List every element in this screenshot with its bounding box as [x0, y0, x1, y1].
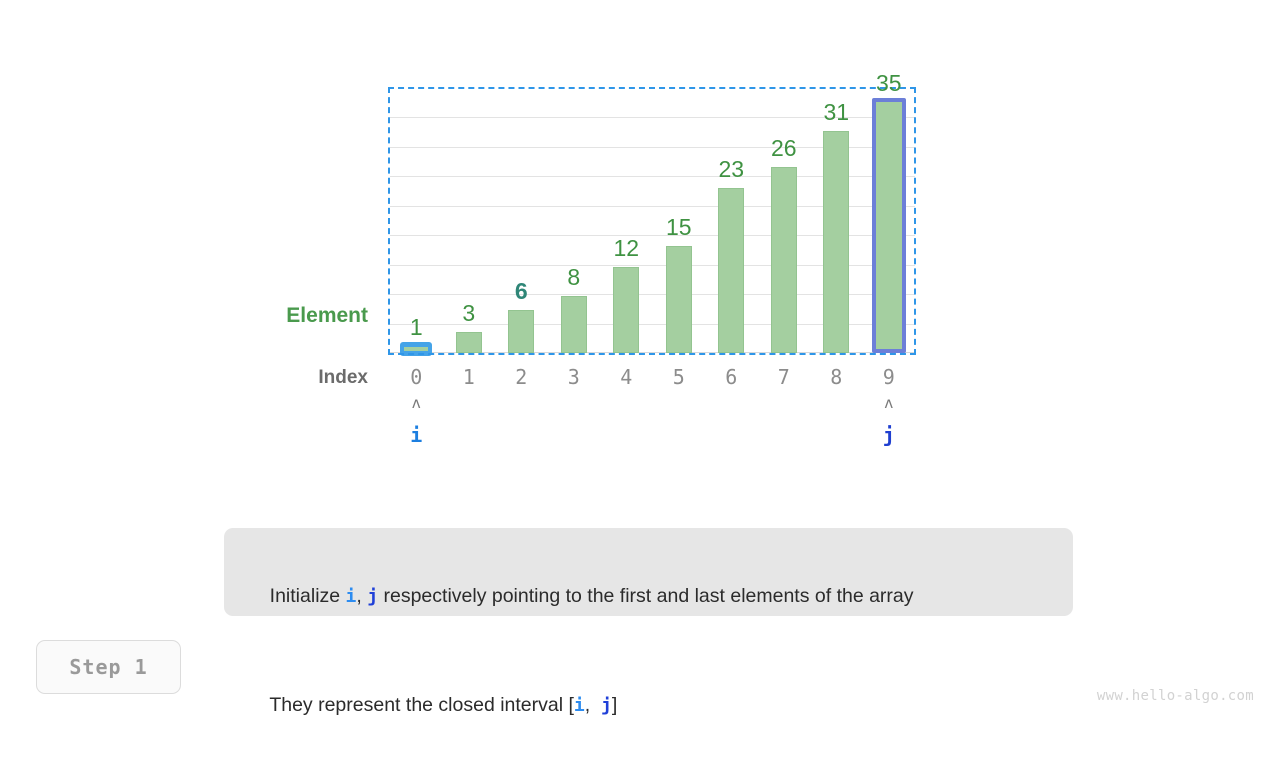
pointer-caret-i: ʌ: [386, 396, 446, 411]
caption-l1-i: i: [346, 586, 357, 607]
index-tick-5: 5: [649, 367, 709, 387]
value-label: 1: [386, 316, 446, 339]
caption-l2-sep: ,: [585, 694, 601, 716]
index-tick-4: 4: [596, 367, 656, 387]
caption-l2-j: j: [601, 695, 612, 716]
value-label-target: 6: [491, 280, 551, 303]
caption-l2-text2: ]: [612, 694, 617, 716]
binary-search-visualization: 1368121523263135 Element Index 012345678…: [0, 0, 1280, 470]
watermark: www.hello-algo.com: [1097, 688, 1254, 704]
step-badge: Step 1: [36, 640, 181, 694]
value-label: 35: [859, 72, 919, 95]
caption-line-2: They represent the closed interval [i, j…: [248, 651, 1049, 760]
bar: [718, 188, 744, 353]
value-label: 12: [596, 237, 656, 260]
element-row-label: Element: [200, 304, 368, 328]
bar: [613, 267, 639, 353]
value-label: 8: [544, 266, 604, 289]
caption-line-1: Initialize i, j respectively pointing to…: [248, 542, 1049, 651]
index-tick-2: 2: [491, 367, 551, 387]
bar: [561, 296, 587, 353]
pointer-name-j: j: [859, 425, 919, 445]
index-tick-9: 9: [859, 367, 919, 387]
bar-inner-fill: [404, 347, 428, 351]
pointer-name-i: i: [386, 425, 446, 445]
bar: [508, 310, 534, 353]
caption-box: Initialize i, j respectively pointing to…: [224, 528, 1073, 616]
index-tick-8: 8: [806, 367, 866, 387]
bar: [456, 332, 482, 353]
pointer-caret-j: ʌ: [859, 396, 919, 411]
value-label: 3: [439, 302, 499, 325]
index-row-label: Index: [200, 367, 368, 389]
caption-l1-j: j: [367, 586, 378, 607]
value-label: 26: [754, 137, 814, 160]
bar-highlighted-j: [872, 98, 906, 353]
bar: [771, 167, 797, 353]
caption-l2-text1: They represent the closed interval [: [269, 694, 574, 716]
bar: [666, 246, 692, 353]
value-label: 23: [701, 158, 761, 181]
index-tick-7: 7: [754, 367, 814, 387]
bar: [823, 131, 849, 353]
value-label: 15: [649, 216, 709, 239]
index-tick-0: 0: [386, 367, 446, 387]
index-tick-3: 3: [544, 367, 604, 387]
value-label: 31: [806, 101, 866, 124]
caption-l2-i: i: [574, 695, 585, 716]
index-tick-1: 1: [439, 367, 499, 387]
caption-l1-comma: ,: [356, 585, 367, 607]
index-tick-6: 6: [701, 367, 761, 387]
caption-l1-text1: Initialize: [270, 585, 346, 607]
i-pointer-bar-marker: [400, 342, 432, 356]
caption-l1-text2: respectively pointing to the first and l…: [378, 585, 913, 607]
